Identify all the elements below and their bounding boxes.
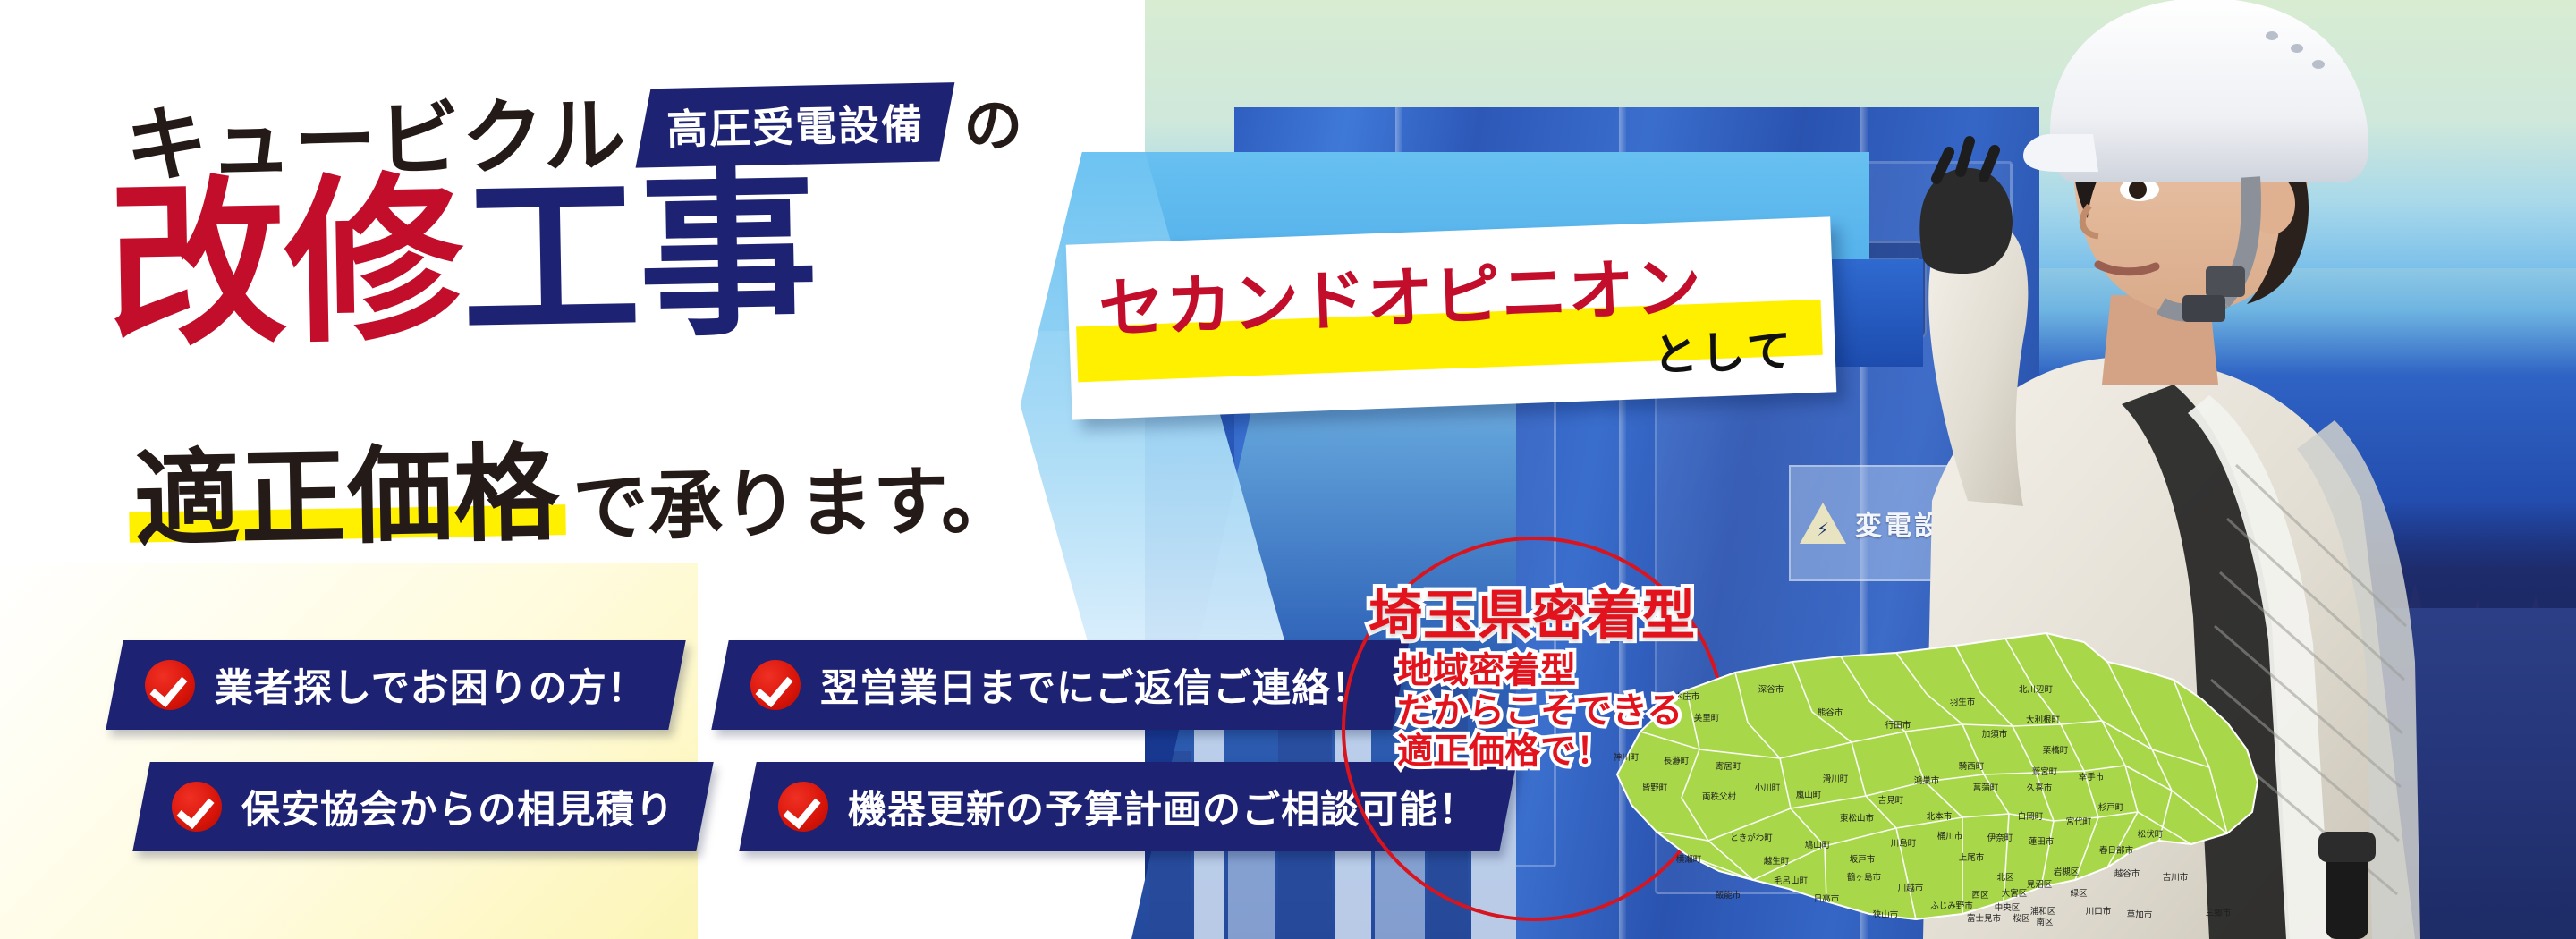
svg-text:狭山市: 狭山市 (1873, 909, 1899, 920)
svg-text:岩槻区: 岩槻区 (2054, 867, 2080, 877)
headline-closing-text: で承ります。 (572, 462, 1017, 546)
particle-no-text: の (962, 77, 1023, 164)
svg-text:深谷市: 深谷市 (1758, 684, 1784, 695)
svg-text:富士見市: 富士見市 (1967, 913, 2002, 924)
feature-badge-row-2: 保安協会からの相見積り 機器更新の予算計画のご相談可能！ (141, 762, 1508, 851)
svg-text:坂戸市: 坂戸市 (1850, 854, 1876, 865)
feature-badge-3[interactable]: 保安協会からの相見積り (132, 762, 713, 851)
svg-text:桶川市: 桶川市 (1937, 831, 1963, 842)
svg-text:三郷市: 三郷市 (2206, 908, 2232, 918)
svg-text:鷲宮町: 鷲宮町 (2032, 766, 2058, 777)
region-subtitle: 地域密着型だからこそできる適正価格で！ (1397, 651, 1682, 771)
svg-text:加須市: 加須市 (1982, 729, 2008, 740)
feature-badge-row-1: 業者探しでお困りの方！ 翌営業日までにご返信ご連絡！ (114, 640, 1401, 730)
svg-text:川口市: 川口市 (2086, 906, 2112, 917)
feature-badge-2[interactable]: 翌営業日までにご返信ご連絡！ (711, 640, 1410, 730)
svg-text:騎西町: 騎西町 (1959, 761, 1985, 772)
equipment-type-badge-label: 高圧受電設備 (666, 91, 925, 156)
svg-text:幸手市: 幸手市 (2079, 772, 2105, 782)
svg-text:横瀬町: 横瀬町 (1676, 854, 1702, 865)
region-block: 本庄市 深谷市 美里町 熊谷市 行田市 羽生市 北川辺町 大利根町 加須市 栗橋… (1324, 554, 2290, 939)
svg-text:鴻巣市: 鴻巣市 (1914, 775, 1940, 786)
svg-text:南区: 南区 (2036, 917, 2054, 927)
svg-text:杉戸町: 杉戸町 (2098, 802, 2124, 813)
region-title: 埼玉県密着型 (1368, 572, 1696, 650)
headline-line-2: 改修 工事 (106, 169, 817, 353)
svg-text:ふじみ野市: ふじみ野市 (1930, 901, 1973, 911)
svg-text:日高市: 日高市 (1814, 893, 1840, 904)
svg-text:西区: 西区 (1971, 891, 1989, 901)
hero-banner: 変電設備 キュービクル 高圧受電設備 の 改修 工事 (0, 0, 2576, 939)
svg-text:見沼区: 見沼区 (2027, 880, 2053, 890)
feature-badge-group: 業者探しでお困りの方！ 翌営業日までにご返信ご連絡！ 保安協会からの相見積り (0, 626, 1431, 921)
svg-text:蓮田市: 蓮田市 (2029, 836, 2055, 847)
svg-text:越生町: 越生町 (1764, 856, 1790, 867)
headline-line-3: 適正価格 で承ります。 (133, 432, 1017, 553)
check-circle-icon (172, 782, 222, 832)
svg-text:滑川町: 滑川町 (1823, 774, 1849, 784)
svg-text:北区: 北区 (1996, 873, 2014, 883)
second-opinion-panel: セカンドオピニオン として (1066, 216, 1837, 419)
svg-text:北川辺町: 北川辺町 (2019, 685, 2054, 695)
second-opinion-subtitle: として (1652, 315, 1795, 385)
svg-text:毛呂山町: 毛呂山町 (1774, 876, 1809, 886)
svg-text:美里町: 美里町 (1694, 713, 1720, 723)
feature-badge-1[interactable]: 業者探しでお困りの方！ (106, 640, 685, 730)
feature-badge-1-label: 業者探しでお困りの方！ (215, 657, 647, 713)
fair-price-text: 適正価格 (133, 431, 561, 562)
svg-text:吉見町: 吉見町 (1878, 796, 1904, 806)
svg-text:皆野町: 皆野町 (1642, 783, 1668, 793)
svg-text:緑区: 緑区 (2070, 888, 2088, 899)
check-circle-icon (145, 660, 195, 710)
svg-text:宮代町: 宮代町 (2066, 816, 2092, 827)
svg-text:白岡町: 白岡町 (2018, 811, 2044, 822)
svg-text:春日部市: 春日部市 (2099, 845, 2134, 856)
check-circle-icon (750, 660, 801, 710)
svg-text:行田市: 行田市 (1885, 720, 1911, 731)
svg-text:熊谷市: 熊谷市 (1818, 707, 1843, 718)
svg-text:菖蒲町: 菖蒲町 (1973, 782, 1999, 793)
feature-badge-3-label: 保安協会からの相見積り (241, 779, 674, 834)
svg-text:吉川市: 吉川市 (2163, 872, 2189, 883)
svg-text:越谷市: 越谷市 (2114, 868, 2140, 879)
svg-text:小川町: 小川町 (1755, 783, 1781, 793)
headline-construction-text: 工事 (460, 169, 817, 347)
svg-text:嵐山町: 嵐山町 (1796, 791, 1822, 800)
feature-badge-2-label: 翌営業日までにご返信ご連絡！ (820, 657, 1370, 713)
svg-text:草加市: 草加市 (2127, 909, 2153, 920)
svg-text:松伏町: 松伏町 (2138, 829, 2164, 840)
svg-text:浦和区: 浦和区 (2030, 906, 2056, 917)
svg-text:羽生市: 羽生市 (1950, 697, 1976, 707)
svg-text:上尾市: 上尾市 (1959, 852, 1985, 863)
svg-text:両秩父村: 両秩父村 (1702, 791, 1737, 802)
svg-text:川越市: 川越市 (1898, 883, 1924, 893)
svg-text:鶴ヶ島市: 鶴ヶ島市 (1847, 872, 1882, 883)
svg-text:ときがわ町: ときがわ町 (1730, 833, 1773, 843)
headline-renovation-text: 改修 (106, 175, 462, 353)
svg-text:北本市: 北本市 (1927, 811, 1953, 822)
svg-text:飯能市: 飯能市 (1716, 890, 1741, 901)
svg-text:大宮区: 大宮区 (2002, 888, 2028, 899)
svg-text:桜区: 桜区 (2012, 913, 2030, 924)
svg-text:中央区: 中央区 (1995, 902, 2021, 913)
svg-text:大利根町: 大利根町 (2026, 715, 2061, 725)
saitama-prefecture-map: 本庄市 深谷市 美里町 熊谷市 行田市 羽生市 北川辺町 大利根町 加須市 栗橋… (1601, 606, 2281, 928)
check-circle-icon (778, 782, 828, 832)
fair-price-highlight-wrap: 適正価格 (133, 440, 561, 553)
svg-text:川島町: 川島町 (1891, 838, 1917, 849)
svg-text:東松山市: 東松山市 (1840, 813, 1875, 824)
svg-text:鳩山町: 鳩山町 (1805, 840, 1831, 850)
svg-text:栗橋町: 栗橋町 (2043, 745, 2069, 756)
svg-text:久喜市: 久喜市 (2027, 782, 2053, 793)
svg-text:寄居町: 寄居町 (1716, 761, 1741, 772)
svg-text:伊奈町: 伊奈町 (1987, 833, 2013, 843)
